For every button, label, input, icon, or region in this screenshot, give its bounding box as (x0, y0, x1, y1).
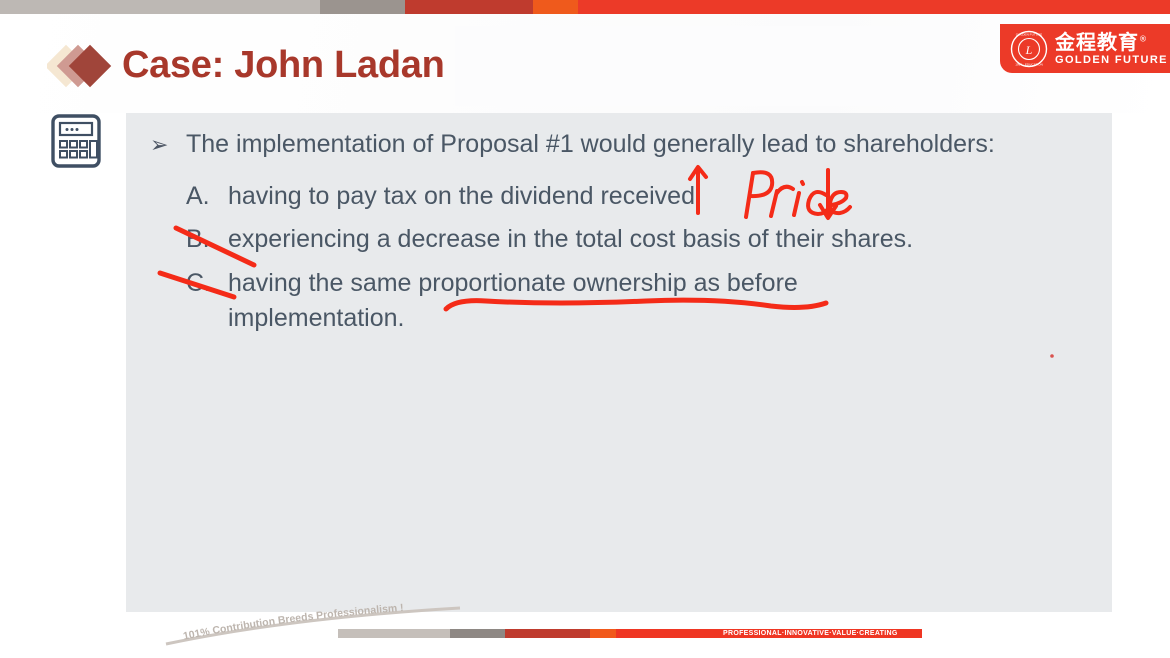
bar-segment-mid-gray (320, 0, 405, 14)
diamond-logo-icon (47, 41, 121, 97)
option-text-c: having the same proportionate ownership … (228, 266, 928, 337)
content-panel: ➢ The implementation of Proposal #1 woul… (126, 113, 1112, 612)
question-block: ➢ The implementation of Proposal #1 woul… (140, 127, 1100, 337)
option-letter-c: C. (186, 266, 228, 337)
slide-header: Case: John Ladan L GOLDEN FUTURE 1999 · … (0, 14, 1170, 113)
option-text-a: having to pay tax on the dividend receiv… (228, 179, 1100, 215)
page-title: Case: John Ladan (122, 44, 445, 87)
brand-en-name: GOLDEN FUTURE (1055, 55, 1168, 66)
bar-segment-light-gray (0, 0, 320, 14)
brand-cn-name: 金程教育 (1055, 30, 1139, 54)
option-row-a[interactable]: A. having to pay tax on the dividend rec… (186, 179, 1100, 215)
option-letter-b: B. (186, 222, 228, 258)
calculator-icon (50, 113, 102, 169)
question-stem: The implementation of Proposal #1 would … (186, 127, 1100, 163)
bar-segment-brick-red (505, 629, 590, 638)
option-letter-a: A. (186, 179, 228, 215)
svg-text:1999 · EDUCATION: 1999 · EDUCATION (1015, 62, 1043, 66)
svg-text:GOLDEN FUTURE: GOLDEN FUTURE (1016, 32, 1042, 36)
header-decorative-panel (455, 26, 920, 106)
registered-mark: ® (1139, 34, 1148, 43)
brand-logo: L GOLDEN FUTURE 1999 · EDUCATION 金程教育® G… (1000, 24, 1170, 73)
bar-segment-orange (533, 0, 578, 14)
brand-seal-icon: L GOLDEN FUTURE 1999 · EDUCATION (1010, 30, 1048, 68)
footer-motto: PROFESSIONAL·INNOVATIVE·VALUE·CREATING (723, 630, 898, 637)
ink-dot (1050, 354, 1054, 358)
bar-segment-bright-red (578, 0, 1170, 14)
bar-segment-orange (590, 629, 616, 638)
bar-segment-light-gray (338, 629, 450, 638)
bar-segment-mid-gray (450, 629, 505, 638)
option-text-b: experiencing a decrease in the total cos… (228, 222, 1100, 258)
bar-segment-brick-red (405, 0, 533, 14)
option-row-b[interactable]: B. experiencing a decrease in the total … (186, 222, 1100, 258)
svg-text:L: L (1025, 43, 1033, 57)
arrow-bullet-icon: ➢ (150, 134, 168, 156)
option-row-c[interactable]: C. having the same proportionate ownersh… (186, 266, 1100, 337)
footer-swoosh: 101% Contribution Breeds Professionalism… (160, 602, 590, 648)
top-color-strip (0, 0, 1170, 14)
